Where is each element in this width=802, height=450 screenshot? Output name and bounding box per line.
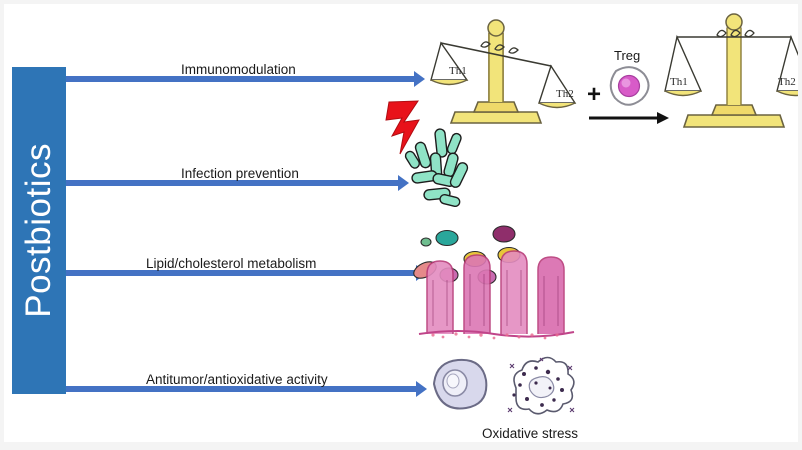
oxidative-stress-caption: Oxidative stress <box>482 426 578 441</box>
scale-right-pan-label-th2: Th2 <box>778 76 796 88</box>
arrow-head-icon <box>414 71 425 87</box>
infection-prevention-illustration <box>374 96 504 221</box>
postbiotics-sidebar: Postbiotics <box>12 67 66 394</box>
bacteria-cluster <box>404 129 469 208</box>
pathway-arrow-immunomodulation: Immunomodulation <box>66 64 426 94</box>
treg-cell-icon <box>611 67 649 105</box>
balance-scale-balanced <box>665 14 798 127</box>
intestinal-villi <box>419 251 574 337</box>
figure-canvas: Postbiotics Immunomodulation Infection p… <box>4 4 798 442</box>
treg-label: Treg <box>614 48 640 63</box>
scale-left-pan-label-th2: Th2 <box>556 88 574 100</box>
pathway-arrow-lipid-cholesterol-metabolism: Lipid/cholesterol metabolism <box>66 258 428 288</box>
scale-right-pan-label-th1: Th1 <box>670 76 688 88</box>
lightning-bolt-icon <box>386 101 419 154</box>
lipid-metabolism-illustration <box>409 222 589 340</box>
sidebar-title: Postbiotics <box>19 143 59 318</box>
damaged-cell-icon <box>508 358 574 414</box>
pathway-label-lipid-cholesterol-metabolism: Lipid/cholesterol metabolism <box>146 256 316 271</box>
pathway-label-infection-prevention: Infection prevention <box>181 166 299 181</box>
pathway-label-antitumor-antioxidative-activity: Antitumor/antioxidative activity <box>146 372 328 387</box>
transform-arrow-icon <box>589 112 669 124</box>
plus-sign-icon: + <box>587 81 601 108</box>
pathway-label-immunomodulation: Immunomodulation <box>181 62 296 77</box>
healthy-cell-icon <box>434 360 486 409</box>
antitumor-illustration <box>424 352 614 424</box>
pathway-arrow-antitumor-antioxidative-activity: Antitumor/antioxidative activity <box>66 374 428 404</box>
scale-left-pan-label-th1: Th1 <box>449 65 467 77</box>
pathway-arrow-infection-prevention: Infection prevention <box>66 168 411 198</box>
